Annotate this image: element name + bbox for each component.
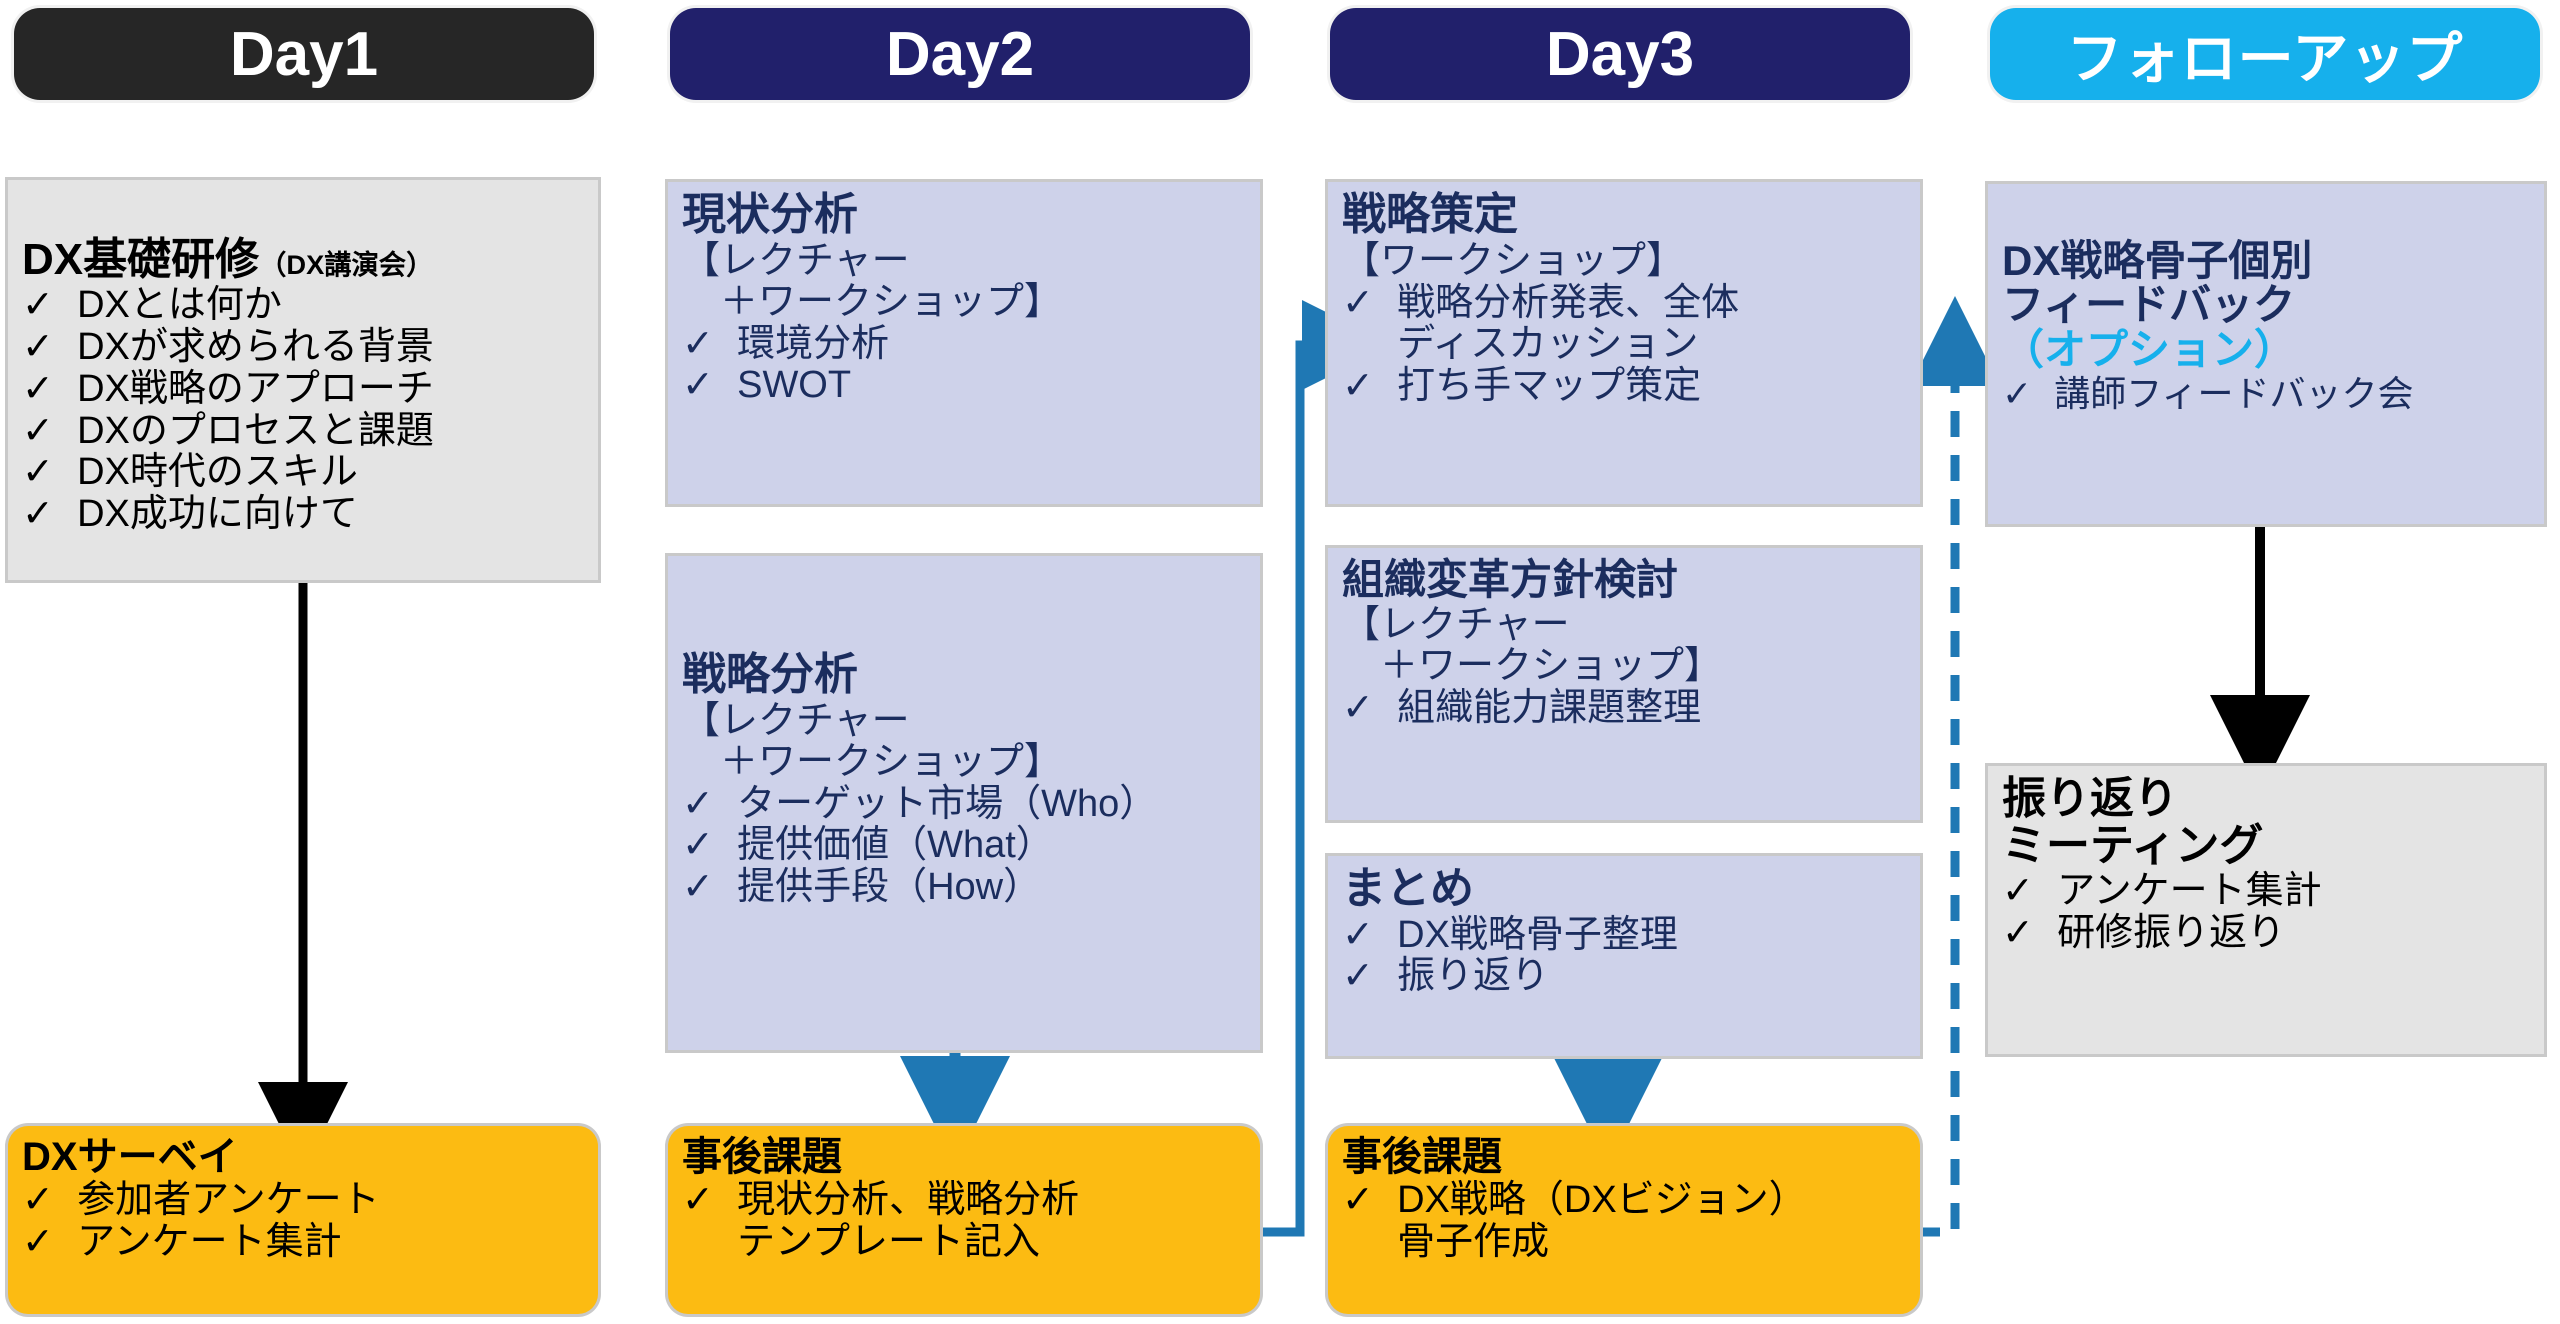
list-item: ✓振り返り — [1342, 956, 1906, 998]
list-item-label: DXが求められる背景 — [77, 327, 584, 369]
check-icon: ✓ — [1342, 1180, 1397, 1222]
list-item-label: 講師フィードバック会 — [2054, 374, 2530, 414]
list-item-label: 組織能力課題整理 — [1397, 688, 1906, 730]
card-day2-strategy-analysis-title: 戦略分析 — [682, 652, 1246, 699]
check-icon: ✓ — [2002, 374, 2054, 414]
list-item: ✓研修振り返り — [2002, 913, 2530, 955]
list-item: ✓組織能力課題整理 — [1342, 688, 1906, 730]
list-item: ✓提供価値（What） — [682, 825, 1246, 867]
card-day1-survey[interactable]: DXサーベイ ✓参加者アンケート ✓アンケート集計 — [8, 1126, 598, 1314]
card-day2-current-analysis-subtitle: 【レクチャー ＋ワークショップ】 — [682, 241, 1246, 323]
card-day2-current-analysis-title: 現状分析 — [682, 192, 1246, 239]
card-day1-main-title: DX基礎研修（DX講演会） — [22, 190, 584, 283]
card-day2-current-analysis[interactable]: 現状分析 【レクチャー ＋ワークショップ】 ✓環境分析 ✓SWOT — [668, 182, 1260, 504]
card-followup-review-meeting[interactable]: 振り返り ミーティング ✓アンケート集計 ✓研修振り返り — [1988, 766, 2544, 1054]
list-item: ✓DX成功に向けて — [22, 494, 584, 536]
card-day3-org-transformation-title: 組織変革方針検討 — [1342, 558, 1906, 603]
check-icon: ✓ — [22, 411, 77, 453]
list-item: ✓提供手段（How） — [682, 867, 1246, 909]
list-item-label: 環境分析 — [737, 324, 1246, 366]
card-day2-strategy-analysis-subtitle: 【レクチャー ＋ワークショップ】 — [682, 701, 1246, 783]
check-icon: ✓ — [22, 1180, 77, 1222]
card-day1-survey-list: ✓参加者アンケート ✓アンケート集計 — [22, 1180, 584, 1264]
card-followup-feedback-title-text: DX戦略骨子個別 フィードバック — [2002, 237, 2312, 329]
list-item: ✓打ち手マップ策定 — [1342, 366, 1906, 408]
list-item: ✓DXとは何か — [22, 285, 584, 327]
card-followup-feedback-title: DX戦略骨子個別 フィードバック（オプション） — [2002, 194, 2530, 372]
card-followup-feedback-option-label: （オプション） — [2002, 326, 2296, 373]
check-icon: ✓ — [22, 452, 77, 494]
list-item: ✓講師フィードバック会 — [2002, 374, 2530, 414]
check-icon: ✓ — [2002, 913, 2057, 955]
list-item-label: 振り返り — [1397, 956, 1906, 998]
check-icon: ✓ — [22, 369, 77, 411]
column-header-followup-label: フォローアップ — [2067, 14, 2464, 95]
column-header-day3[interactable]: Day3 — [1330, 8, 1910, 100]
card-day2-strategy-analysis[interactable]: 戦略分析 【レクチャー ＋ワークショップ】 ✓ターゲット市場（Who） ✓提供価… — [668, 556, 1260, 1050]
card-day3-assignment-title: 事後課題 — [1342, 1136, 1906, 1178]
slide-canvas: Day1 Day2 Day3 フォローアップ DX基礎研修（DX講演会） ✓DX… — [0, 0, 2560, 1324]
card-day2-assignment-title: 事後課題 — [682, 1136, 1246, 1178]
list-item-label: 戦略分析発表、全体 ディスカッション — [1397, 283, 1906, 367]
check-icon: ✓ — [1342, 366, 1397, 408]
list-item: ✓ターゲット市場（Who） — [682, 784, 1246, 826]
column-header-day1-label: Day1 — [230, 19, 378, 90]
check-icon: ✓ — [682, 365, 737, 407]
card-followup-review-meeting-list: ✓アンケート集計 ✓研修振り返り — [2002, 871, 2530, 955]
column-header-followup[interactable]: フォローアップ — [1990, 8, 2540, 100]
list-item-label: 打ち手マップ策定 — [1397, 366, 1906, 408]
list-item-label: DX戦略（DXビジョン） 骨子作成 — [1397, 1180, 1906, 1264]
card-day1-main-title-text: DX基礎研修 — [22, 235, 259, 284]
list-item: ✓DX時代のスキル — [22, 452, 584, 494]
list-item: ✓アンケート集計 — [2002, 871, 2530, 913]
card-day2-strategy-analysis-list: ✓ターゲット市場（Who） ✓提供価値（What） ✓提供手段（How） — [682, 784, 1246, 909]
check-icon: ✓ — [682, 867, 737, 909]
card-followup-feedback-list: ✓講師フィードバック会 — [2002, 374, 2530, 414]
column-header-day1[interactable]: Day1 — [14, 8, 594, 100]
check-icon: ✓ — [2002, 871, 2057, 913]
list-item-label: アンケート集計 — [2057, 871, 2530, 913]
card-followup-feedback[interactable]: DX戦略骨子個別 フィードバック（オプション） ✓講師フィードバック会 — [1988, 184, 2544, 524]
check-icon: ✓ — [22, 494, 77, 536]
card-day3-summary-list: ✓DX戦略骨子整理 ✓振り返り — [1342, 915, 1906, 999]
list-item-label: 研修振り返り — [2057, 913, 2530, 955]
list-item-label: ターゲット市場（Who） — [737, 784, 1246, 826]
check-icon: ✓ — [682, 825, 737, 867]
list-item-label: 提供価値（What） — [737, 825, 1246, 867]
check-icon: ✓ — [22, 285, 77, 327]
card-day2-current-analysis-list: ✓環境分析 ✓SWOT — [682, 324, 1246, 408]
list-item-label: DX時代のスキル — [77, 452, 584, 494]
card-day3-strategy-planning-list: ✓戦略分析発表、全体 ディスカッション ✓打ち手マップ策定 — [1342, 283, 1906, 408]
card-day1-main-list: ✓DXとは何か ✓DXが求められる背景 ✓DX戦略のアプローチ ✓DXのプロセス… — [22, 285, 584, 536]
list-item: ✓環境分析 — [682, 324, 1246, 366]
check-icon: ✓ — [1342, 956, 1397, 998]
card-day3-org-transformation[interactable]: 組織変革方針検討 【レクチャー ＋ワークショップ】 ✓組織能力課題整理 — [1328, 548, 1920, 820]
check-icon: ✓ — [1342, 283, 1397, 325]
list-item: ✓DX戦略骨子整理 — [1342, 915, 1906, 957]
list-item-label: 提供手段（How） — [737, 867, 1246, 909]
column-header-day2[interactable]: Day2 — [670, 8, 1250, 100]
check-icon: ✓ — [682, 1180, 737, 1222]
card-day1-survey-title: DXサーベイ — [22, 1136, 584, 1178]
check-icon: ✓ — [1342, 688, 1397, 730]
list-item-label: 現状分析、戦略分析 テンプレート記入 — [737, 1180, 1246, 1264]
card-day3-strategy-planning-subtitle: 【ワークショップ】 — [1342, 241, 1906, 282]
list-item-label: DXとは何か — [77, 285, 584, 327]
card-day3-strategy-planning[interactable]: 戦略策定 【ワークショップ】 ✓戦略分析発表、全体 ディスカッション ✓打ち手マ… — [1328, 182, 1920, 504]
list-item-label: DX成功に向けて — [77, 494, 584, 536]
card-day1-main[interactable]: DX基礎研修（DX講演会） ✓DXとは何か ✓DXが求められる背景 ✓DX戦略の… — [8, 180, 598, 580]
list-item: ✓戦略分析発表、全体 ディスカッション — [1342, 283, 1906, 367]
card-day2-assignment-list: ✓現状分析、戦略分析 テンプレート記入 — [682, 1180, 1246, 1264]
card-day3-assignment-list: ✓DX戦略（DXビジョン） 骨子作成 — [1342, 1180, 1906, 1264]
list-item: ✓参加者アンケート — [22, 1180, 584, 1222]
list-item-label: アンケート集計 — [77, 1222, 584, 1264]
list-item-label: DX戦略のアプローチ — [77, 369, 584, 411]
list-item: ✓DX戦略（DXビジョン） 骨子作成 — [1342, 1180, 1906, 1264]
card-day3-org-transformation-list: ✓組織能力課題整理 — [1342, 688, 1906, 730]
list-item-label: 参加者アンケート — [77, 1180, 584, 1222]
list-item: ✓現状分析、戦略分析 テンプレート記入 — [682, 1180, 1246, 1264]
card-day3-summary[interactable]: まとめ ✓DX戦略骨子整理 ✓振り返り — [1328, 856, 1920, 1056]
card-day2-assignment[interactable]: 事後課題 ✓現状分析、戦略分析 テンプレート記入 — [668, 1126, 1260, 1314]
check-icon: ✓ — [682, 784, 737, 826]
check-icon: ✓ — [22, 327, 77, 369]
card-day3-org-transformation-subtitle: 【レクチャー ＋ワークショップ】 — [1342, 605, 1906, 687]
card-day3-summary-title: まとめ — [1342, 866, 1906, 913]
column-header-day3-label: Day3 — [1546, 19, 1694, 90]
card-day3-strategy-planning-title: 戦略策定 — [1342, 192, 1906, 239]
list-item: ✓DXのプロセスと課題 — [22, 411, 584, 453]
list-item-label: DX戦略骨子整理 — [1397, 915, 1906, 957]
check-icon: ✓ — [22, 1222, 77, 1264]
list-item-label: DXのプロセスと課題 — [77, 411, 584, 453]
column-header-day2-label: Day2 — [886, 19, 1034, 90]
card-day1-main-title-note: （DX講演会） — [259, 249, 433, 280]
card-followup-review-meeting-title: 振り返り ミーティング — [2002, 776, 2530, 869]
list-item: ✓アンケート集計 — [22, 1222, 584, 1264]
list-item: ✓DX戦略のアプローチ — [22, 369, 584, 411]
list-item: ✓DXが求められる背景 — [22, 327, 584, 369]
card-day3-assignment[interactable]: 事後課題 ✓DX戦略（DXビジョン） 骨子作成 — [1328, 1126, 1920, 1314]
check-icon: ✓ — [1342, 915, 1397, 957]
list-item: ✓SWOT — [682, 365, 1246, 407]
check-icon: ✓ — [682, 324, 737, 366]
list-item-label: SWOT — [737, 365, 1246, 407]
